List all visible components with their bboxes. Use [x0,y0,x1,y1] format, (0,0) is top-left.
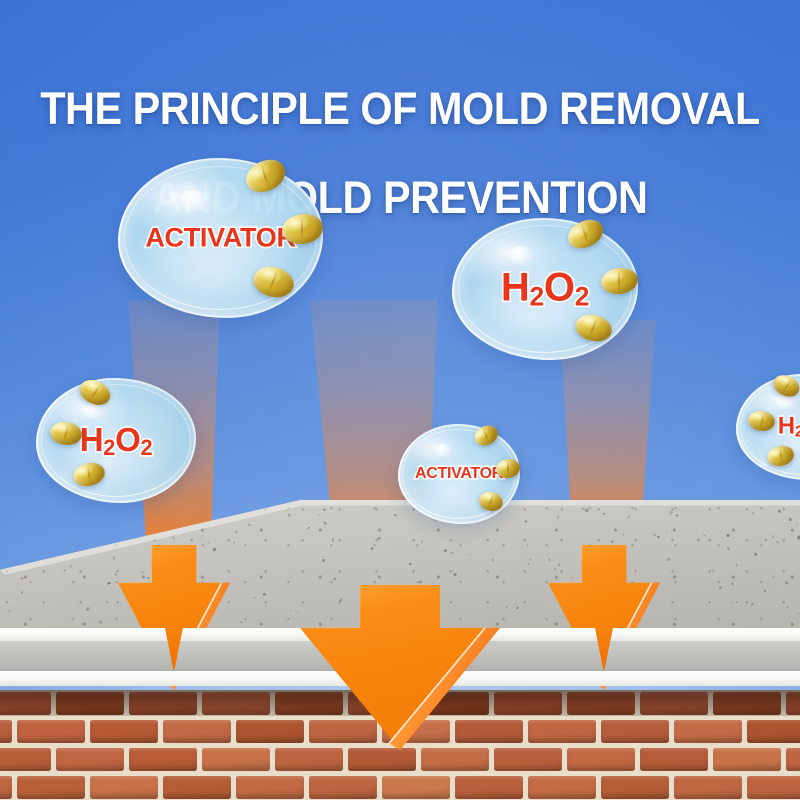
brick [90,776,158,799]
brick [163,776,231,799]
brick [17,720,85,743]
bubble-h2o2-top-right: H2O2 [452,218,638,360]
brick [674,720,742,743]
brick [0,748,51,771]
bubble-activator-top-left: ACTIVATOR [118,158,323,318]
brick [382,776,450,799]
mold-speck [377,537,380,540]
bubble-highlight [435,444,452,457]
mold-speck [21,591,23,593]
bubble-highlight [180,190,209,211]
mold-speck [665,531,667,534]
mold-speck [421,540,423,544]
brick [528,720,596,743]
bubble-activator-mid: ACTIVATOR [398,424,520,524]
brick [348,748,416,771]
bubble-highlight [508,246,534,264]
mold-speck [526,543,528,546]
infographic-canvas: THE PRINCIPLE OF MOLD REMOVAL AND MOLD P… [0,0,800,800]
mold-speck [323,508,325,511]
mold-speck [394,513,397,515]
brick [601,776,669,799]
brick-row [0,746,800,774]
brick [236,776,304,799]
brick [494,748,562,771]
brick [163,720,231,743]
brick [202,748,270,771]
brick [674,776,742,799]
brick [56,748,124,771]
brick [786,748,800,771]
brick [0,776,12,799]
mold-speck [3,619,5,621]
brick [17,776,85,799]
brick [567,748,635,771]
brick [601,720,669,743]
arrow-center [300,585,500,750]
mold-speck [667,557,671,560]
brick-row [0,774,800,800]
brick [90,720,158,743]
brick [640,748,708,771]
brick [421,748,489,771]
brick [0,720,12,743]
brick [528,776,596,799]
brick [129,748,197,771]
brick [275,748,343,771]
brick [713,748,781,771]
brick [309,776,377,799]
brick [747,776,800,799]
mold-speck [593,529,600,532]
bubble-h2o2-right-edge: H2O2 [736,374,800,480]
bubble-highlight [777,395,796,409]
brick [455,776,523,799]
mold-speck [491,559,493,561]
bubble-highlight [84,403,106,419]
mold-speck [727,534,730,537]
title-line-1: THE PRINCIPLE OF MOLD REMOVAL [32,87,768,132]
brick [747,720,800,743]
bubble-h2o2-mid-left: H2O2 [36,378,196,503]
brick [236,720,304,743]
